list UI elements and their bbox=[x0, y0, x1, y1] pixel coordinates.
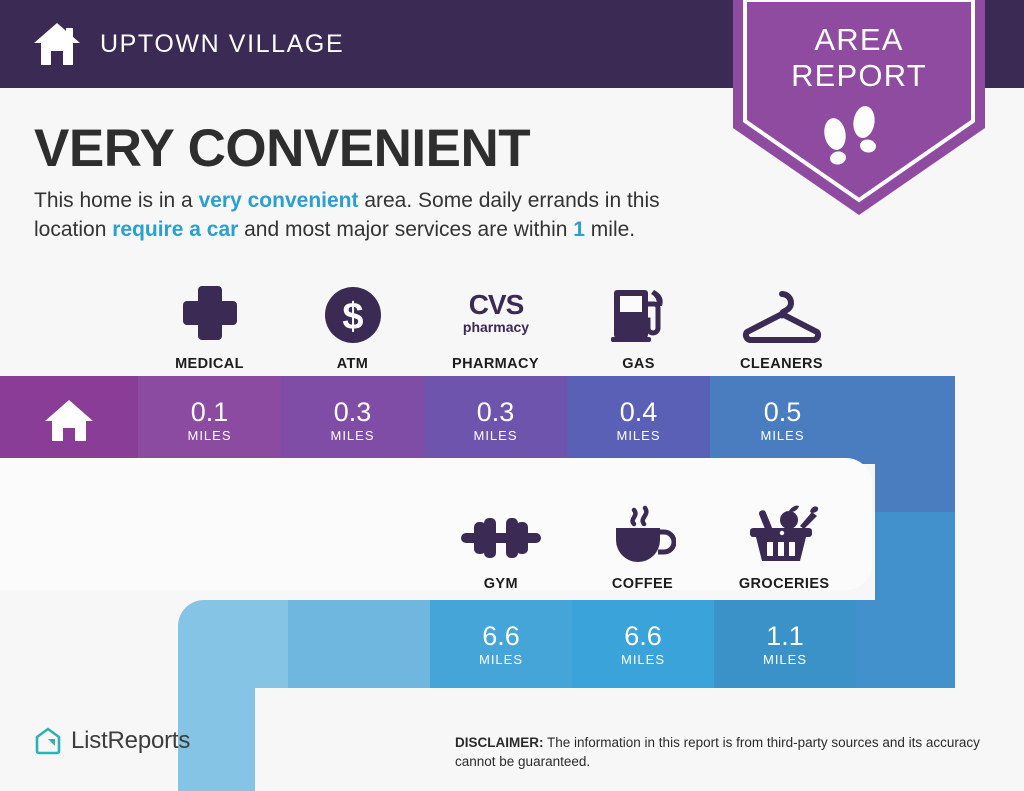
page-title: VERY CONVENIENT bbox=[34, 118, 530, 179]
svg-text:CVS: CVS bbox=[468, 289, 523, 320]
distance-cell-cleaners: 0.5 MILES bbox=[710, 376, 855, 464]
distance-cell-pharmacy: 0.3 MILES bbox=[424, 376, 567, 464]
amenity-label: CLEANERS bbox=[740, 356, 823, 372]
distance-unit: MILES bbox=[479, 652, 523, 667]
svg-text:$: $ bbox=[342, 296, 363, 338]
distance-cell-tail bbox=[856, 600, 955, 688]
distance-bar-row-1: 0.1 MILES 0.3 MILES 0.3 MILES 0.4 MILES … bbox=[0, 376, 955, 464]
listreports-logo-text: ListReports bbox=[71, 727, 190, 755]
badge-line-1: AREA bbox=[733, 22, 985, 58]
badge-label: AREA REPORT bbox=[733, 22, 985, 94]
distance-cell-gas: 0.4 MILES bbox=[567, 376, 710, 464]
distance-value: 1.1 bbox=[766, 621, 804, 651]
area-report-badge: AREA REPORT bbox=[733, 0, 985, 215]
amenity-gym: GYM bbox=[430, 492, 572, 592]
highlight-miles: 1 bbox=[573, 218, 585, 241]
amenity-atm: $ ATM bbox=[281, 272, 424, 372]
distance-value: 0.3 bbox=[334, 397, 372, 427]
description-part-4: mile. bbox=[585, 218, 635, 241]
distance-value: 6.6 bbox=[624, 621, 662, 651]
distance-cell-tail bbox=[855, 376, 955, 464]
distance-unit: MILES bbox=[760, 428, 804, 443]
listreports-house-icon bbox=[34, 726, 62, 756]
distance-unit: MILES bbox=[621, 652, 665, 667]
distance-value: 0.5 bbox=[764, 397, 802, 427]
house-icon bbox=[32, 21, 82, 67]
home-marker-cell bbox=[0, 376, 138, 464]
distance-cell-lead-1 bbox=[178, 600, 288, 688]
amenity-label: ATM bbox=[337, 356, 369, 372]
distance-unit: MILES bbox=[187, 428, 231, 443]
medical-cross-icon bbox=[179, 282, 241, 344]
amenity-label: MEDICAL bbox=[175, 356, 244, 372]
svg-text:pharmacy: pharmacy bbox=[462, 319, 528, 335]
header-title: UPTOWN VILLAGE bbox=[100, 30, 344, 59]
amenity-label: PHARMACY bbox=[452, 356, 539, 372]
grocery-basket-icon bbox=[748, 502, 820, 564]
highlight-require-car: require a car bbox=[112, 218, 238, 241]
distance-unit: MILES bbox=[330, 428, 374, 443]
description-part-1: This home is in a bbox=[34, 189, 199, 212]
coffee-cup-icon bbox=[610, 502, 676, 564]
amenity-label: GAS bbox=[622, 356, 655, 372]
dumbbell-icon bbox=[461, 502, 541, 564]
clothes-hanger-icon bbox=[737, 282, 827, 344]
distance-cell-lead-2 bbox=[288, 600, 430, 688]
distance-cell-medical: 0.1 MILES bbox=[138, 376, 281, 464]
distance-value: 6.6 bbox=[482, 621, 520, 651]
gas-pump-icon bbox=[610, 282, 668, 344]
page-description: This home is in a very convenient area. … bbox=[34, 186, 724, 244]
amenity-medical: MEDICAL bbox=[138, 272, 281, 372]
amenity-label: GYM bbox=[484, 576, 518, 592]
distance-cell-groceries: 1.1 MILES bbox=[714, 600, 856, 688]
distance-unit: MILES bbox=[473, 428, 517, 443]
highlight-convenience: very convenient bbox=[199, 189, 359, 212]
badge-line-2: REPORT bbox=[733, 58, 985, 94]
amenity-pharmacy: CVS pharmacy PHARMACY bbox=[424, 272, 567, 372]
dollar-circle-icon: $ bbox=[324, 282, 382, 344]
distance-unit: MILES bbox=[616, 428, 660, 443]
distance-value: 0.3 bbox=[477, 397, 515, 427]
amenity-icon-row-1: MEDICAL $ ATM CVS pharmacy PHARMACY bbox=[138, 272, 955, 372]
amenity-label: GROCERIES bbox=[739, 576, 830, 592]
distance-bar-row-2: 6.6 MILES 6.6 MILES 1.1 MILES bbox=[178, 600, 955, 688]
distance-value: 0.1 bbox=[191, 397, 229, 427]
distance-cell-atm: 0.3 MILES bbox=[281, 376, 424, 464]
distance-value: 0.4 bbox=[620, 397, 658, 427]
disclaimer-label: DISCLAIMER: bbox=[455, 735, 544, 750]
amenity-label: COFFEE bbox=[612, 576, 673, 592]
cvs-pharmacy-icon: CVS pharmacy bbox=[451, 282, 541, 344]
house-icon bbox=[42, 396, 96, 444]
amenity-coffee: COFFEE bbox=[572, 492, 714, 592]
amenity-gas: GAS bbox=[567, 272, 710, 372]
distance-unit: MILES bbox=[763, 652, 807, 667]
amenity-cleaners: CLEANERS bbox=[710, 272, 853, 372]
description-part-3: and most major services are within bbox=[238, 218, 573, 241]
listreports-logo: ListReports bbox=[34, 726, 190, 756]
area-report-infographic: UPTOWN VILLAGE AREA REPORT VERY CONVENIE… bbox=[0, 0, 1024, 791]
amenity-groceries: GROCERIES bbox=[713, 492, 855, 592]
distance-cell-coffee: 6.6 MILES bbox=[572, 600, 714, 688]
amenity-icon-row-2: GYM COFFEE bbox=[430, 492, 855, 592]
distance-cell-gym: 6.6 MILES bbox=[430, 600, 572, 688]
disclaimer: DISCLAIMER: The information in this repo… bbox=[455, 733, 1000, 771]
